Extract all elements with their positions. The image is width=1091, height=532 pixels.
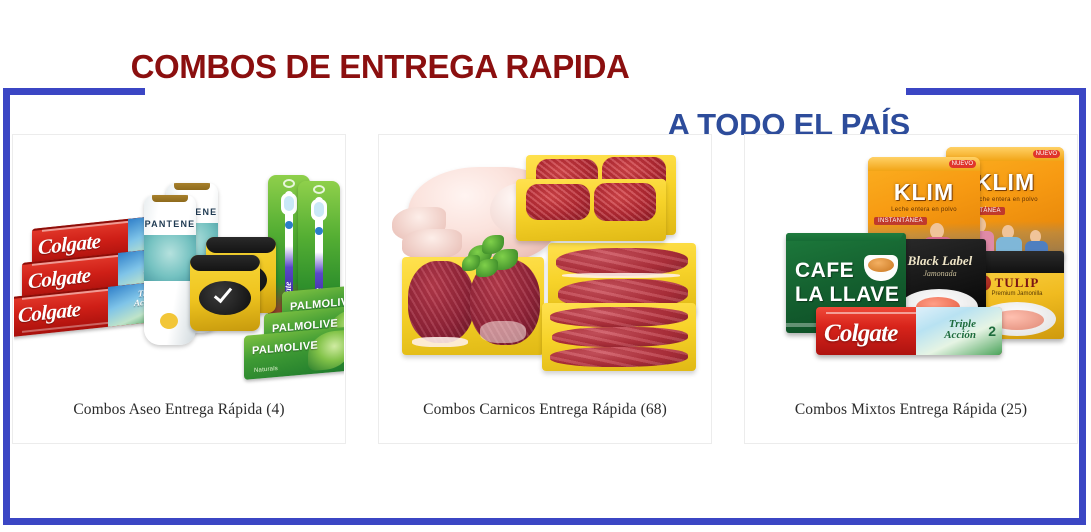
frame-bottom-border	[3, 518, 1086, 525]
product-image-combos-carnicos	[380, 139, 710, 397]
frame-top-left-segment	[3, 88, 145, 95]
ground-beef-tray	[516, 179, 666, 241]
category-card-combos-carnicos[interactable]: Combos Carnicos Entrega Rápida (68)	[378, 134, 712, 444]
frame-top-right-segment	[906, 88, 1086, 95]
klim-wordmark: KLIM	[868, 179, 980, 206]
klim-badge: NUEVO	[949, 160, 976, 168]
promo-banner-page: COMBOS DE ENTREGA RAPIDA A TODO EL PAÍS …	[0, 0, 1091, 532]
headline-primary: COMBOS DE ENTREGA RAPIDA	[0, 48, 760, 86]
black-label-line-2: Jamonada	[894, 269, 986, 278]
parsley-garnish	[462, 231, 522, 281]
colgate-wordmark: Colgate	[18, 297, 80, 329]
pantene-shampoo-bottle: PANTENE	[144, 195, 196, 345]
category-card-grid: Colgate TripleAcción Colgate TripleAcció…	[12, 134, 1078, 444]
colgate-wordmark: Colgate	[824, 320, 898, 348]
deodorant-tub	[190, 255, 260, 331]
frame-left-border	[3, 88, 10, 525]
card-label-combos-aseo: Combos Aseo Entrega Rápida (4)	[13, 397, 345, 419]
product-image-combos-mixtos: NUEVO KLIM Leche entera en polvo INSTANT…	[746, 139, 1076, 397]
colgate-pack-count: 2	[988, 323, 996, 339]
black-label-line-1: Black Label	[894, 253, 986, 269]
frame-right-border	[1079, 88, 1086, 525]
palmolive-variant: Naturals	[254, 366, 278, 374]
card-label-combos-mixtos: Combos Mixtos Entrega Rápida (25)	[745, 397, 1077, 419]
klim-badge: NUEVO	[1033, 150, 1060, 158]
category-card-combos-aseo[interactable]: Colgate TripleAcción Colgate TripleAcció…	[12, 134, 346, 444]
pantene-wordmark: PANTENE	[144, 219, 196, 229]
colgate-toothpaste-tube: Colgate TripleAcción 2	[816, 307, 1002, 355]
beef-milanesa-tray	[542, 303, 696, 371]
cafe-line-1: CAFE	[795, 259, 854, 283]
colgate-triple-accion-text: TripleAcción	[944, 319, 976, 341]
product-image-combos-aseo: Colgate TripleAcción Colgate TripleAcció…	[14, 139, 344, 397]
card-label-combos-carnicos: Combos Carnicos Entrega Rápida (68)	[379, 397, 711, 419]
klim-tagline: Leche entera en polvo	[868, 207, 980, 213]
palmolive-soap-bar: PALMOLIVE Naturals	[244, 326, 344, 380]
category-card-combos-mixtos[interactable]: NUEVO KLIM Leche entera en polvo INSTANT…	[744, 134, 1078, 444]
cafe-line-2: LA LLAVE	[795, 283, 899, 307]
